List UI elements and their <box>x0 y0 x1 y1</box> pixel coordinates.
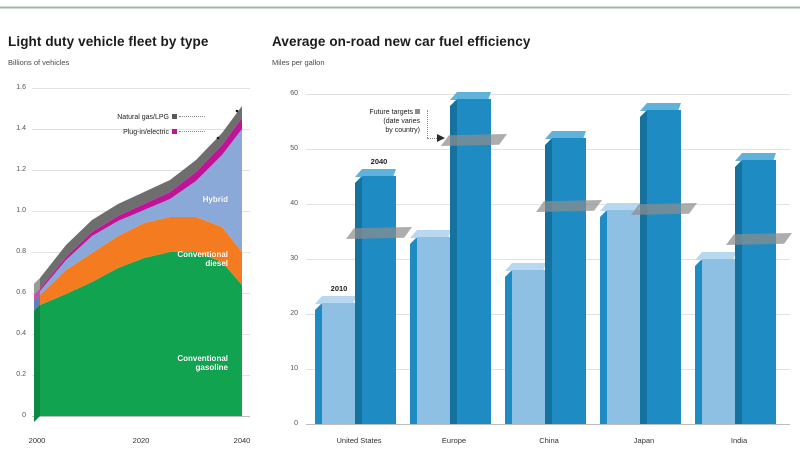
legend-natural-gas-leader <box>179 116 205 117</box>
bar-china-2010[interactable] <box>512 270 546 424</box>
top-rule-inner <box>0 7 800 8</box>
ytick-0.8: 0.8 <box>0 248 26 255</box>
bar-japan-2040[interactable] <box>647 110 681 424</box>
xtick-2000: 2000 <box>17 436 57 445</box>
bar-label-united-states-2040: 2040 <box>352 157 406 166</box>
ytick-0.2: 0.2 <box>0 371 26 378</box>
bar-europe-2040[interactable] <box>457 99 491 424</box>
gridline-0 <box>306 424 790 425</box>
right-chart-title: Average on-road new car fuel efficiency <box>272 34 530 49</box>
xtick-2040: 2040 <box>222 436 262 445</box>
bar-front-face <box>702 259 736 424</box>
ytick-1.0: 1.0 <box>0 207 26 214</box>
bar-front-face <box>512 270 546 424</box>
bar-side-face <box>505 270 512 424</box>
ytick-30: 30 <box>272 255 298 262</box>
future-targets-swatch <box>415 109 420 114</box>
ytick-0: 0 <box>0 412 26 419</box>
ytick-10: 10 <box>272 365 298 372</box>
bar-europe-2010[interactable] <box>417 237 451 424</box>
legend-natural-gas: Natural gas/LPG <box>10 114 205 121</box>
bar-front-face <box>607 210 641 424</box>
target-marker-europe <box>441 134 507 146</box>
ytick-0.6: 0.6 <box>0 289 26 296</box>
xtick-united-states: United States <box>319 436 399 445</box>
target-marker-india <box>726 233 792 245</box>
bar-india-2010[interactable] <box>702 259 736 424</box>
bar-side-face <box>695 259 702 424</box>
right-chart-panel: Average on-road new car fuel efficiency … <box>262 20 800 450</box>
target-slab <box>441 134 507 146</box>
bar-china-2040[interactable] <box>552 138 586 424</box>
target-slab <box>536 200 602 212</box>
bar-side-face <box>545 138 552 424</box>
bar-side-face <box>600 210 607 424</box>
ytick-1.2: 1.2 <box>0 166 26 173</box>
target-slab <box>346 227 412 239</box>
bar-united-states-2010[interactable] <box>322 303 356 424</box>
bar-side-face <box>640 110 647 424</box>
area-label-gasoline-line2: gasoline <box>128 363 228 373</box>
bar-front-face <box>647 110 681 424</box>
future-targets-line3: by country) <box>385 127 420 134</box>
bar-side-face <box>410 237 417 424</box>
bar-side-face <box>315 303 322 424</box>
ytick-1.4: 1.4 <box>0 125 26 132</box>
ytick-0.4: 0.4 <box>0 330 26 337</box>
bar-front-face <box>322 303 356 424</box>
ytick-40: 40 <box>272 200 298 207</box>
ytick-60: 60 <box>272 90 298 97</box>
legend-plug-in-electric: Plug-in/electric <box>10 129 205 136</box>
ytick-1.6: 1.6 <box>0 84 26 91</box>
top-rule <box>0 6 800 9</box>
future-targets-arrow-icon <box>437 134 445 142</box>
target-slab <box>631 203 697 215</box>
area-label-diesel-line2: diesel <box>128 259 228 269</box>
bar-side-face <box>355 176 362 424</box>
legend-natural-gas-label: Natural gas/LPG <box>117 114 169 121</box>
bar-india-2040[interactable] <box>742 160 776 424</box>
xtick-2020: 2020 <box>121 436 161 445</box>
legend-natural-gas-swatch <box>172 114 177 119</box>
target-marker-china <box>536 200 602 212</box>
bar-front-face <box>362 176 396 424</box>
bar-plot-area: 60 50 40 30 20 10 0 2010 2040 United Sta… <box>306 86 790 446</box>
left-chart-panel: Light duty vehicle fleet by type Billion… <box>0 20 262 450</box>
right-chart-subtitle: Miles per gallon <box>272 58 325 67</box>
legend-plug-in-electric-label: Plug-in/electric <box>123 129 169 136</box>
future-targets-line1: Future targets <box>369 109 413 116</box>
gridline-60 <box>306 94 790 95</box>
bar-front-face <box>552 138 586 424</box>
xtick-india: India <box>699 436 779 445</box>
bar-front-face <box>742 160 776 424</box>
bar-japan-2010[interactable] <box>607 210 641 424</box>
area-plot-area: Hybrid Conventional diesel Conventional … <box>32 88 250 446</box>
left-chart-subtitle: Billions of vehicles <box>8 58 69 67</box>
target-slab <box>726 233 792 245</box>
legend-plug-in-electric-leader <box>179 131 205 132</box>
bar-side-face <box>735 160 742 424</box>
future-targets-leader-elbow <box>427 138 437 139</box>
bar-front-face <box>417 237 451 424</box>
target-marker-united-states <box>346 227 412 239</box>
ytick-20: 20 <box>272 310 298 317</box>
bar-side-face <box>450 99 457 424</box>
xtick-europe: Europe <box>414 436 494 445</box>
target-marker-japan <box>631 203 697 215</box>
xtick-japan: Japan <box>604 436 684 445</box>
future-targets-annotation: Future targets (date varies by country) <box>328 108 420 135</box>
legend-plug-in-electric-swatch <box>172 129 177 134</box>
ytick-50: 50 <box>272 145 298 152</box>
bar-front-face <box>457 99 491 424</box>
future-targets-line2: (date varies <box>383 118 420 125</box>
ytick-0: 0 <box>272 420 298 427</box>
xtick-china: China <box>509 436 589 445</box>
left-chart-title: Light duty vehicle fleet by type <box>8 34 209 49</box>
future-targets-leader-line <box>427 110 428 138</box>
bar-united-states-2040[interactable] <box>362 176 396 424</box>
area-label-hybrid: Hybrid <box>150 195 228 205</box>
